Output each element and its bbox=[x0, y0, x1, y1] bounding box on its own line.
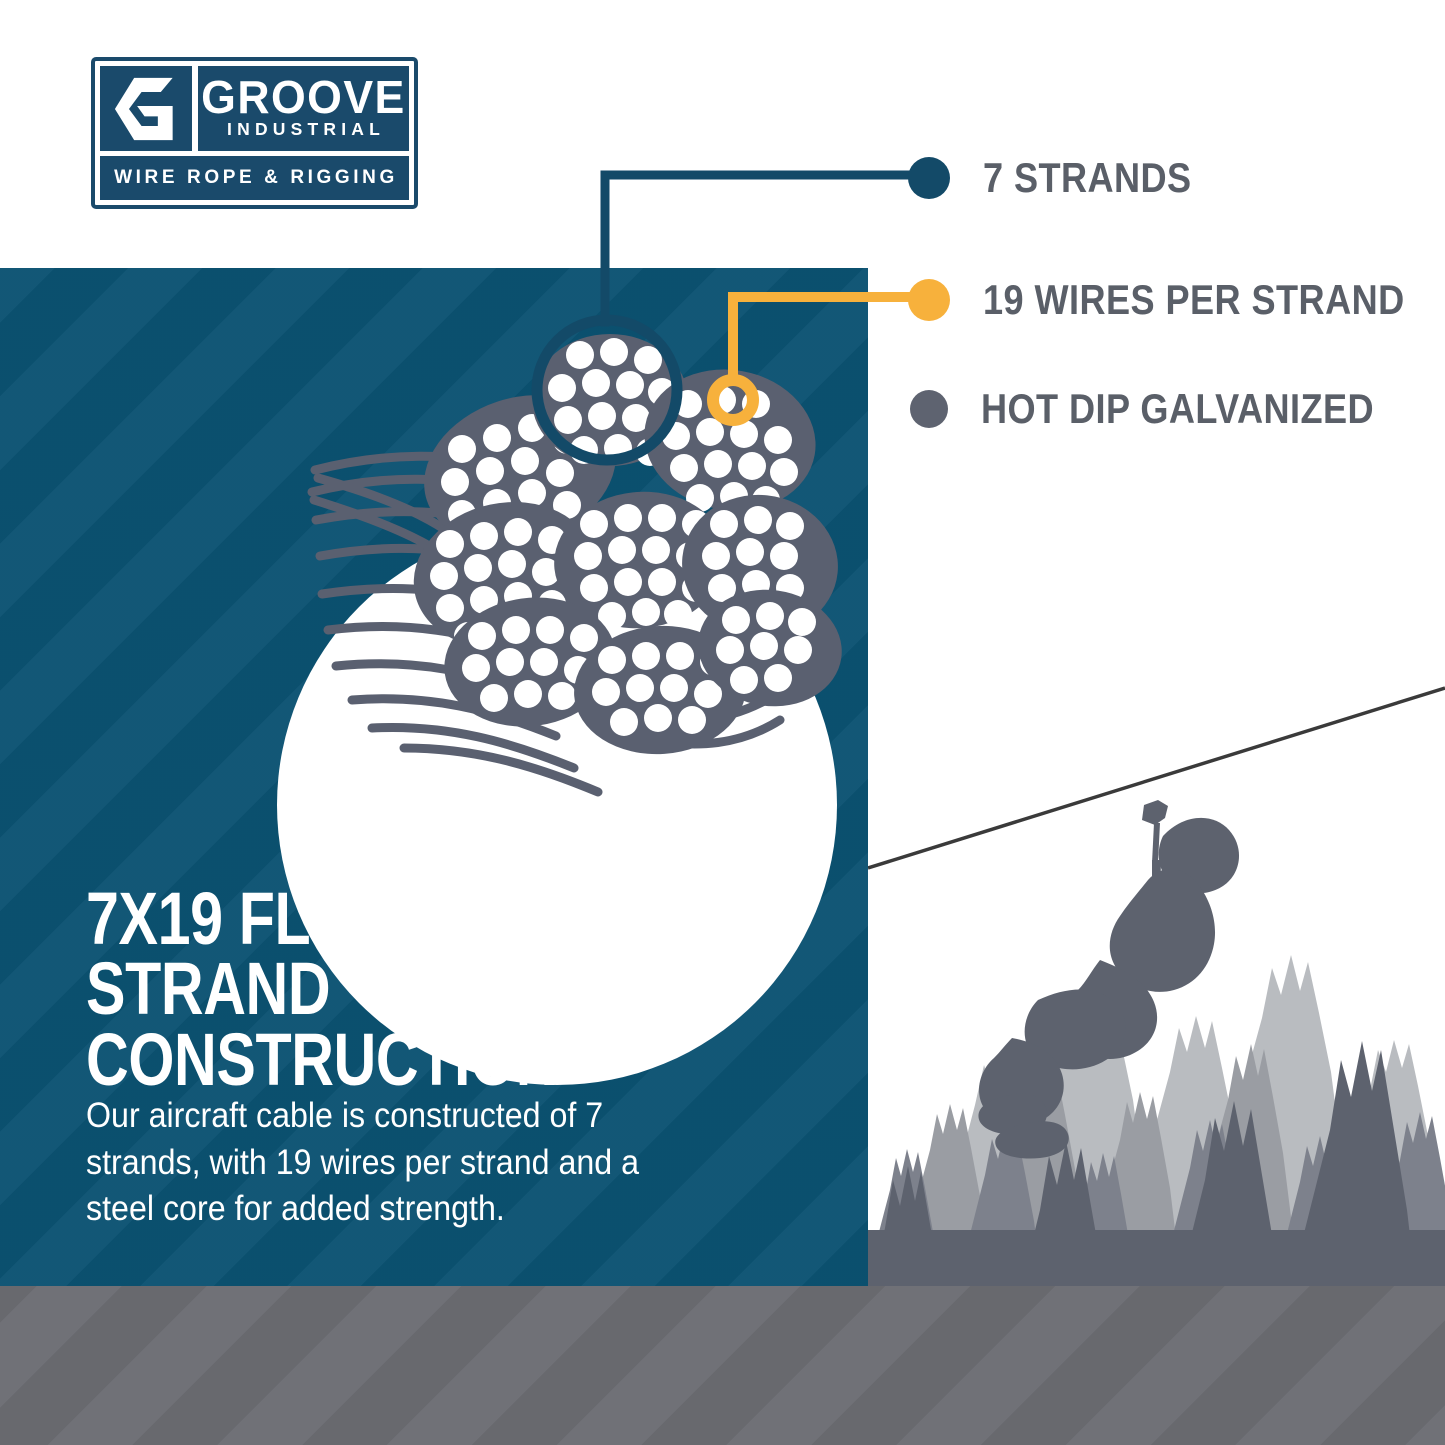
tree-layer-far bbox=[927, 955, 1441, 1288]
callout-7-strands: 7 STRANDS bbox=[908, 154, 1226, 202]
band-stripe-texture bbox=[0, 1286, 1445, 1445]
callout-19-wires-per-strand: 19 WIRES PER STRAND bbox=[908, 276, 1445, 324]
callout-dot-amber-icon bbox=[908, 279, 950, 321]
callout-label: HOT DIP GALVANIZED bbox=[981, 385, 1374, 433]
callout-label: 19 WIRES PER STRAND bbox=[983, 276, 1405, 324]
brand-name: GROOVE bbox=[201, 76, 406, 118]
body-copy: Our aircraft cable is constructed of 7 s… bbox=[86, 1093, 712, 1233]
page-title: 7X19 FLEXIBLE STRAND CONSTRUCTION bbox=[86, 884, 694, 1095]
callout-dot-gray-icon bbox=[910, 390, 948, 428]
callout-label: 7 STRANDS bbox=[983, 154, 1192, 202]
tree-layer-mid bbox=[883, 1044, 1401, 1326]
groove-g-mark-icon bbox=[100, 66, 192, 151]
bottom-gray-band bbox=[0, 1286, 1445, 1445]
brand-logo[interactable]: GROOVE INDUSTRIAL WIRE ROPE & RIGGING bbox=[91, 57, 418, 209]
zipline-cable bbox=[868, 688, 1445, 868]
zipline-rider-silhouette bbox=[978, 800, 1239, 1159]
callout-dot-navy-icon bbox=[908, 157, 950, 199]
callout-hot-dip-galvanized: HOT DIP GALVANIZED bbox=[908, 385, 1438, 433]
brand-tagline: WIRE ROPE & RIGGING bbox=[111, 167, 398, 189]
infographic-page: GROOVE INDUSTRIAL WIRE ROPE & RIGGING 7 … bbox=[0, 0, 1445, 1445]
